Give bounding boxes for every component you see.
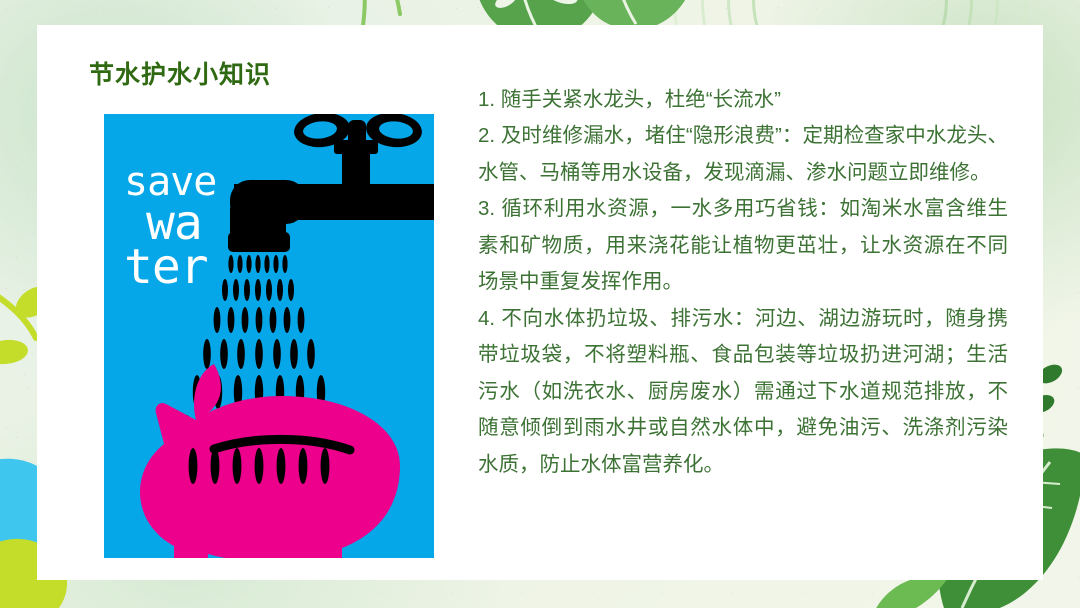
poster-slogan: save wa ter — [124, 164, 274, 289]
page-title: 节水护水小知识 — [89, 55, 271, 91]
tip-item: 4. 不向水体扔垃圾、排污水：河边、湖边游玩时，随身携带垃圾袋，不将塑料瓶、食品… — [478, 301, 1008, 483]
slide-root: 节水护水小知识 — [0, 0, 1080, 608]
piggy-bank-icon — [140, 364, 400, 558]
tip-item: 1. 随手关紧水龙头，杜绝“长流水” — [478, 82, 1008, 118]
save-water-poster-image: save wa ter — [104, 114, 434, 558]
water-saving-tips-list: 1. 随手关紧水龙头，杜绝“长流水” 2. 及时维修漏水，堵住“隐形浪费”：定期… — [478, 82, 1008, 483]
tip-item: 2. 及时维修漏水，堵住“隐形浪费”：定期检查家中水龙头、水管、马桶等用水设备，… — [478, 118, 1008, 191]
content-card: 节水护水小知识 — [37, 25, 1043, 580]
poster-slogan-line-3: ter — [124, 245, 274, 289]
tip-item: 3. 循环利用水资源，一水多用巧省钱：如淘米水富含维生素和矿物质，用来浇花能让植… — [478, 191, 1008, 300]
